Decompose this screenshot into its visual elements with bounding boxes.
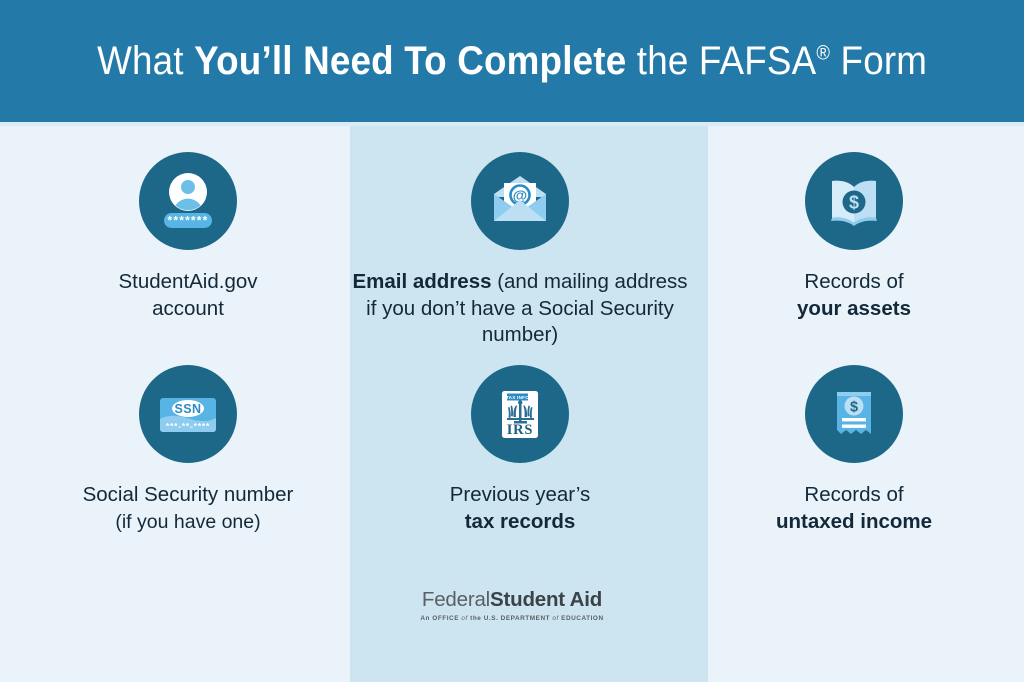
item-caption: StudentAid.gov account [18, 269, 358, 322]
page-title: What You’ll Need To Complete the FAFSA® … [97, 41, 927, 81]
caption-line-1: Records of [804, 270, 903, 293]
item-caption: Records of untaxed income [684, 482, 1024, 535]
open-book-dollar-icon: $ [805, 152, 903, 250]
caption-line-2: account [152, 297, 224, 320]
caption-line-1: Social Security number [83, 483, 294, 506]
fafsa-checklist-infographic: What You’ll Need To Complete the FAFSA® … [0, 0, 1024, 682]
item-records-of-assets: $ Records of your assets [684, 152, 1024, 322]
item-caption: Records of your assets [684, 269, 1024, 322]
caption-line-2: your assets [797, 297, 911, 320]
caption-line-1: StudentAid.gov [118, 270, 257, 293]
logo-wordmark: FederalStudent Aid [0, 588, 1024, 612]
title-part-1: What [97, 39, 194, 83]
icon-container: SSN ***-**-**** [18, 365, 358, 463]
email-envelope-icon: @ [471, 152, 569, 250]
receipt-dollar-icon: $ [805, 365, 903, 463]
item-caption: Social Security number (if you have one) [18, 482, 358, 535]
registered-trademark-symbol: ® [816, 43, 830, 65]
caption-line-1: Previous year’s [450, 483, 591, 506]
user-account-password-icon: ******* [139, 152, 237, 250]
caption-bold-lead: Email address [352, 270, 491, 293]
ssn-label: SSN [175, 402, 202, 416]
icon-container: ******* [18, 152, 358, 250]
item-caption: Previous year’s tax records [350, 482, 690, 535]
password-mask-text: ******* [167, 214, 208, 228]
caption-line-1: Records of [804, 483, 903, 506]
icon-container: $ [684, 152, 1024, 250]
item-tax-records: TAX INFO IRS [350, 365, 690, 535]
logo-word-student-aid: Student Aid [490, 588, 602, 611]
caption-line-2: (if you have one) [115, 511, 260, 533]
icon-container: $ [684, 365, 1024, 463]
federal-student-aid-logo: FederalStudent Aid An OFFICE of the U.S.… [0, 588, 1024, 622]
dollar-symbol: $ [849, 193, 859, 213]
ssn-card-icon: SSN ***-**-**** [139, 365, 237, 463]
tagline-part-a: An OFFICE [420, 615, 461, 622]
icon-container: TAX INFO IRS [350, 365, 690, 463]
title-part-2: the FAFSA [626, 39, 816, 83]
caption-line-2: untaxed income [776, 510, 932, 533]
item-studentaid-account: ******* StudentAid.gov account [18, 152, 358, 322]
tagline-part-b: the U.S. DEPARTMENT [468, 615, 553, 622]
irs-tax-document-icon: TAX INFO IRS [471, 365, 569, 463]
item-email-address: @ Email address (and mailing address if … [350, 152, 690, 349]
irs-label: IRS [507, 422, 534, 438]
caption-line-2: tax records [465, 510, 576, 533]
ssn-digits-mask: ***-**-**** [166, 421, 210, 431]
item-untaxed-income: $ Records of untaxed income [684, 365, 1024, 535]
title-bold-part: You’ll Need To Complete [194, 39, 626, 83]
logo-word-federal: Federal [422, 588, 490, 611]
dollar-symbol: $ [850, 400, 858, 416]
header-banner: What You’ll Need To Complete the FAFSA® … [0, 0, 1024, 122]
icon-container: @ [350, 152, 690, 250]
item-caption: Email address (and mailing address if yo… [350, 269, 690, 349]
title-part-3: Form [830, 39, 927, 83]
tagline-part-c: EDUCATION [559, 615, 604, 622]
item-social-security-number: SSN ***-**-**** Social Security number (… [18, 365, 358, 535]
tax-info-label: TAX INFO [506, 395, 529, 400]
logo-tagline: An OFFICE of the U.S. DEPARTMENT of EDUC… [0, 615, 1024, 622]
